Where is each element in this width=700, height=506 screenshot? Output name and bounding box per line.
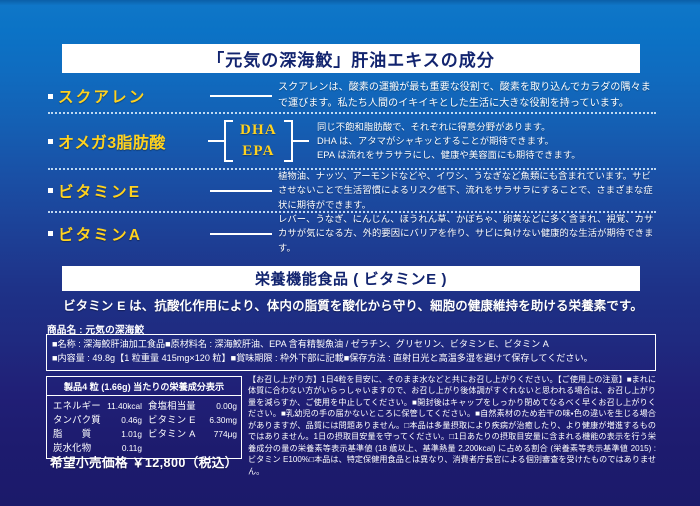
ingredient-description-vitamin-e: 植物油、ナッツ、アーモンドなどや、イワシ、うなぎなど魚類にも含まれています。サビ… <box>278 169 656 211</box>
ingredient-label-cell: ビタミンE <box>48 180 208 202</box>
bracket-item-dha: DHA <box>240 120 277 141</box>
leader-line-left <box>208 140 224 142</box>
nutrition-label: ビタミン E <box>148 413 196 427</box>
ingredient-description-vitamin-a: レバー、うなぎ、にんじん、ほうれん草、かぼちゃ、卵黄などに多く含まれ、視覚、カサ… <box>278 212 656 254</box>
nutrient-function-banner: 栄養機能食品 ( ビタミンE ) <box>62 266 640 291</box>
ingredient-list: スクアレン スクアレンは、酸素の運搬が最も重要な役割で、酸素を取り込んでカラダの… <box>48 80 656 254</box>
ingredient-name-squalene: スクアレン <box>58 85 147 107</box>
ingredient-label-cell: オメガ3脂肪酸 <box>48 129 208 153</box>
nutrition-value: 0.46g <box>118 414 142 426</box>
leader-line <box>210 233 272 235</box>
nutrition-table-body: エネルギー 11.40kcal タンパク質 0.46g 脂 質 1.01g 炭水… <box>47 396 241 458</box>
ingredient-label-cell: ビタミンA <box>48 223 208 245</box>
nutrition-value: 774μg <box>211 428 237 440</box>
square-bullet-icon <box>48 188 53 193</box>
spec-line-1: ■名称 : 深海鮫肝油加工食品■原材料名 : 深海鮫肝油、EPA 含有精製魚油 … <box>52 338 650 352</box>
ingredient-name-vitamin-a: ビタミンA <box>58 223 142 245</box>
banner-subtitle: ビタミン E は、抗酸化作用により、体内の脂質を酸化から守り、細胞の健康維持を助… <box>48 296 658 314</box>
product-spec-box: ■名称 : 深海鮫肝油加工食品■原材料名 : 深海鮫肝油、EPA 含有精製魚油 … <box>46 334 656 371</box>
top-accent-strip <box>0 0 700 5</box>
nutrition-value: 1.01g <box>118 428 142 440</box>
nutrition-value: 0.00g <box>213 400 237 412</box>
nutrition-label: タンパク質 <box>53 413 101 427</box>
page-title: 「元気の深海鮫」肝油エキスの成分 <box>207 46 495 71</box>
leader-line <box>210 190 272 192</box>
nutrition-row: エネルギー 11.40kcal <box>53 399 142 413</box>
dha-epa-bracket-group: DHA EPA <box>208 120 309 163</box>
leader-line <box>210 95 272 97</box>
dha-epa-stack: DHA EPA <box>233 120 284 163</box>
ingredient-description-squalene: スクアレンは、酸素の運搬が最も重要な役割で、酸素を取り込んでカラダの隅々まで運び… <box>278 80 656 112</box>
nutrition-label: ビタミン A <box>148 427 196 441</box>
nutrition-label: 食塩相当量 <box>148 399 196 413</box>
nutrition-table-header: 製品4 粒 (1.66g) 当たりの栄養成分表示 <box>47 377 241 396</box>
leader-line-right <box>293 140 309 142</box>
nutrition-row: ビタミン E 6.30mg <box>148 413 237 427</box>
nutrition-row: タンパク質 0.46g <box>53 413 142 427</box>
nutrition-facts-table: 製品4 粒 (1.66g) 当たりの栄養成分表示 エネルギー 11.40kcal… <box>46 376 242 459</box>
square-bullet-icon <box>48 94 53 99</box>
ingredient-row-vitamin-a: ビタミンA レバー、うなぎ、にんじん、ほうれん草、かぼちゃ、卵黄などに多く含まれ… <box>48 213 656 254</box>
usage-and-precautions-text: 【お召し上がり方】1日4粒を目安に、そのまま水などと共にお召し上がりください。【… <box>248 374 656 477</box>
spec-line-2: ■内容量 : 49.8g【1 粒重量 415mg×120 粒】■賞味期限 : 枠… <box>52 352 650 366</box>
page-title-bar: 「元気の深海鮫」肝油エキスの成分 <box>62 44 640 73</box>
nutrition-row: 食塩相当量 0.00g <box>148 399 237 413</box>
nutrition-label: 脂 質 <box>53 427 91 441</box>
retail-price: 希望小売価格 ￥12,800（税込） <box>50 452 238 471</box>
product-info-panel: 「元気の深海鮫」肝油エキスの成分 スクアレン スクアレンは、酸素の運搬が最も重要… <box>0 0 700 506</box>
ingredient-description-omega3: 同じ不飽和脂肪酸で、それぞれに得意分野があります。 DHA は、アタマがシャキッ… <box>309 120 656 162</box>
bracket-left-icon <box>224 120 233 162</box>
nutrition-column-left: エネルギー 11.40kcal タンパク質 0.46g 脂 質 1.01g 炭水… <box>53 399 142 455</box>
nutrition-column-right: 食塩相当量 0.00g ビタミン E 6.30mg ビタミン A 774μg <box>148 399 237 455</box>
bracket-right-icon <box>284 120 293 162</box>
nutrition-value: 11.40kcal <box>104 400 142 412</box>
ingredient-name-omega3: オメガ3脂肪酸 <box>58 129 166 153</box>
nutrition-value: 6.30mg <box>206 414 237 426</box>
nutrition-row: 脂 質 1.01g <box>53 427 142 441</box>
ingredient-label-cell: スクアレン <box>48 85 208 107</box>
nutrition-label: エネルギー <box>53 399 101 413</box>
ingredient-row-vitamin-e: ビタミンE 植物油、ナッツ、アーモンドなどや、イワシ、うなぎなど魚類にも含まれて… <box>48 170 656 211</box>
square-bullet-icon <box>48 231 53 236</box>
bracket-item-epa: EPA <box>242 141 275 162</box>
banner-title: 栄養機能食品 ( ビタミンE ) <box>255 268 447 289</box>
ingredient-row-omega3: オメガ3脂肪酸 DHA EPA 同じ不飽和脂肪酸で、それぞれに得意分野があります… <box>48 114 656 168</box>
square-bullet-icon <box>48 139 53 144</box>
ingredient-row-squalene: スクアレン スクアレンは、酸素の運搬が最も重要な役割で、酸素を取り込んでカラダの… <box>48 80 656 112</box>
ingredient-name-vitamin-e: ビタミンE <box>58 180 141 202</box>
nutrition-row: ビタミン A 774μg <box>148 427 237 441</box>
